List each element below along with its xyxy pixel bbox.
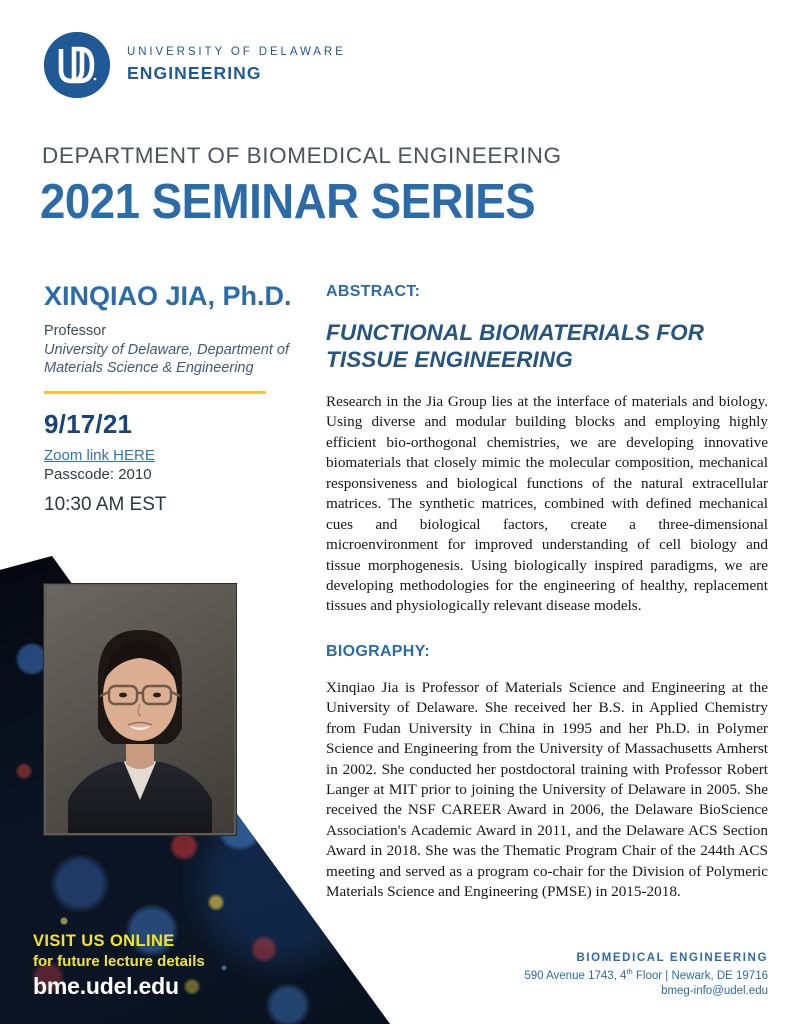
gold-divider — [44, 391, 266, 394]
ud-monogram-icon — [44, 32, 110, 98]
biography-text: Xinqiao Jia is Professor of Materials Sc… — [326, 678, 768, 903]
speaker-name: XINQIAO JIA, Ph.D. — [44, 281, 302, 313]
promo-line-2: for future lecture details — [33, 953, 293, 970]
logo-college-text: ENGINEERING — [127, 63, 346, 84]
talk-title: FUNCTIONAL BIOMATERIALS FOR TISSUE ENGIN… — [326, 319, 768, 373]
event-date: 9/17/21 — [44, 409, 302, 440]
footer-unit-name: BIOMEDICAL ENGINEERING — [524, 952, 768, 964]
promo-block: VISIT US ONLINE for future lecture detai… — [33, 932, 293, 1000]
event-time: 10:30 AM EST — [44, 494, 302, 516]
content-column: ABSTRACT: FUNCTIONAL BIOMATERIALS FOR TI… — [326, 283, 768, 903]
speaker-role: Professor — [44, 323, 302, 339]
footer-address-after: Floor | Newark, DE 19716 — [633, 970, 768, 982]
abstract-label: ABSTRACT: — [326, 283, 768, 301]
abstract-text: Research in the Jia Group lies at the in… — [326, 392, 768, 617]
footer-email[interactable]: bmeg-info@udel.edu — [524, 985, 768, 997]
flyer-page: UNIVERSITY OF DELAWARE ENGINEERING DEPAR… — [0, 0, 790, 1024]
zoom-link[interactable]: Zoom link HERE — [44, 447, 155, 464]
ud-engineering-logo: UNIVERSITY OF DELAWARE ENGINEERING — [44, 32, 346, 98]
logo-university-text: UNIVERSITY OF DELAWARE — [127, 46, 346, 58]
footer-address-before: 590 Avenue 1743, 4 — [524, 970, 626, 982]
zoom-passcode: Passcode: 2010 — [44, 466, 302, 483]
promo-website[interactable]: bme.udel.edu — [33, 973, 293, 1000]
series-title: 2021 SEMINAR SERIES — [40, 178, 535, 227]
promo-line-1: VISIT US ONLINE — [33, 932, 293, 951]
speaker-portrait-photo — [44, 584, 236, 835]
footer-address: 590 Avenue 1743, 4th Floor | Newark, DE … — [524, 967, 768, 982]
speaker-info-block: XINQIAO JIA, Ph.D. Professor University … — [44, 281, 302, 516]
footer-contact-block: BIOMEDICAL ENGINEERING 590 Avenue 1743, … — [524, 952, 768, 997]
logo-wordmark: UNIVERSITY OF DELAWARE ENGINEERING — [127, 46, 346, 84]
speaker-affiliation: University of Delaware, Department of Ma… — [44, 341, 302, 378]
department-title: DEPARTMENT OF BIOMEDICAL ENGINEERING — [42, 143, 562, 169]
biography-label: BIOGRAPHY: — [326, 643, 768, 661]
